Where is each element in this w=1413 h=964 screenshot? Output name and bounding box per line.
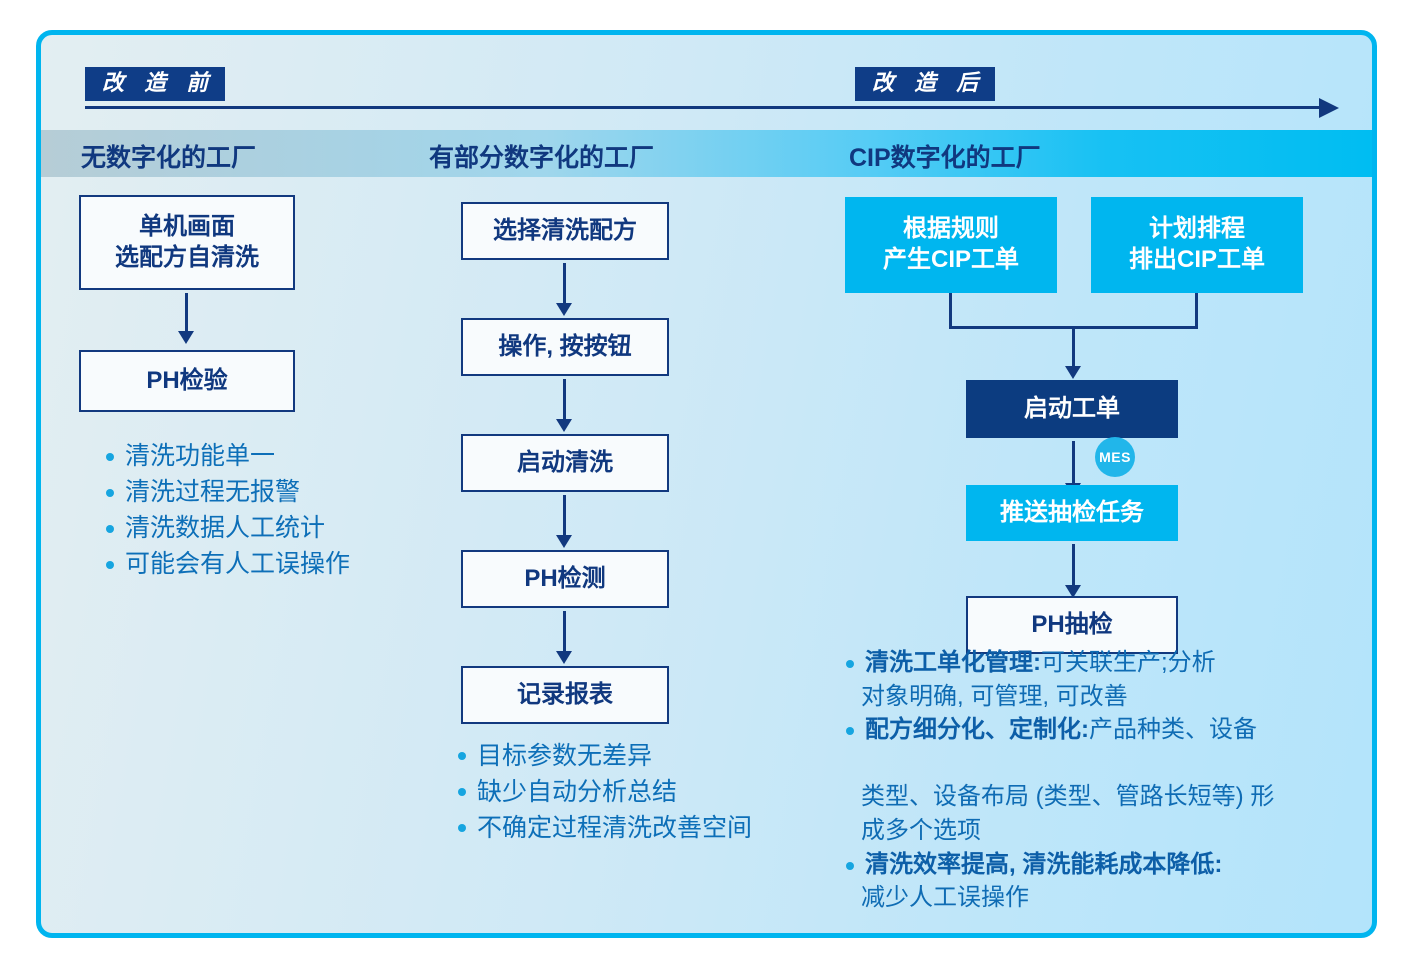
list-item-continuation: 类型、设备布局 (类型、管路长短等) 形 成多个选项 [841,747,1331,848]
flow-box-c2-s2: 操作, 按按钮 [461,318,669,376]
flow-arrow-head-c2-1 [556,303,572,316]
list-item-lead: 配方细分化、定制化: [865,716,1089,743]
list-item: 配方细分化、定制化:产品种类、设备 [841,713,1331,747]
list-item: 清洗功能单一 [101,438,431,474]
diagram-canvas: 改 造 前 改 造 后 无数字化的工厂 有部分数字化的工厂 CIP数字化的工厂 … [0,0,1413,964]
flow-arrow-c3-3 [1072,544,1075,587]
flow-box-c2-s5: 记录报表 [461,666,669,724]
column-header-partial-digital: 有部分数字化的工厂 [429,138,654,174]
bullet-list-partial-digital: 目标参数无差异 缺少自动分析总结 不确定过程清洗改善空间 [453,738,813,846]
right-arrow-icon [1319,98,1339,118]
flow-connector-c3-left [949,293,952,329]
flow-arrow-c2-3 [563,495,566,537]
column-header-no-digital: 无数字化的工厂 [81,138,256,174]
list-item-continuation: 对象明确, 可管理, 可改善 [841,680,1331,714]
timeline-axis [85,106,1323,109]
bullet-list-no-digital: 清洗功能单一 清洗过程无报警 清洗数据人工统计 可能会有人工误操作 [101,438,431,582]
list-item: 清洗工单化管理:可关联生产;分析 [841,646,1331,680]
flow-box-c3-s1: 根据规则 产生CIP工单 [845,197,1057,293]
flow-box-c3-s4: 推送抽检任务 [966,485,1178,541]
list-item: 清洗数据人工统计 [101,510,431,546]
flow-arrow-head-c2-2 [556,419,572,432]
flow-arrow-c3-1 [1072,326,1075,368]
flow-arrow-c2-4 [563,611,566,653]
flow-box-c1-s2: PH检验 [79,350,295,412]
flow-box-c2-s4: PH检测 [461,550,669,608]
list-item-continuation: 减少人工误操作 [841,881,1331,915]
list-item: 可能会有人工误操作 [101,546,431,582]
flow-box-c3-s3: 启动工单 [966,380,1178,438]
flow-arrow-c1-1 [185,293,188,333]
list-item: 不确定过程清洗改善空间 [453,810,813,846]
flow-box-c2-s1: 选择清洗配方 [461,202,669,260]
list-item-cont-text: 减少人工误操作 [861,884,1029,911]
flow-box-c3-s2: 计划排程 排出CIP工单 [1091,197,1303,293]
list-item-cont-text: 对象明确, 可管理, 可改善 [861,683,1128,710]
flow-arrow-head-c1-1 [178,331,194,344]
list-item-rest: 可关联生产;分析 [1041,649,1216,676]
list-item: 清洗过程无报警 [101,474,431,510]
list-item: 清洗效率提高, 清洗能耗成本降低: [841,848,1331,882]
list-item: 目标参数无差异 [453,738,813,774]
list-item-lead: 清洗效率提高, 清洗能耗成本降低: [865,851,1222,878]
bullet-list-cip-digital: 清洗工单化管理:可关联生产;分析 对象明确, 可管理, 可改善 配方细分化、定制… [841,646,1331,915]
list-item: 缺少自动分析总结 [453,774,813,810]
column-header-cip-digital: CIP数字化的工厂 [849,138,1041,174]
list-item-lead: 清洗工单化管理: [865,649,1041,676]
diagram-frame: 改 造 前 改 造 后 无数字化的工厂 有部分数字化的工厂 CIP数字化的工厂 … [36,30,1377,938]
list-item-cont-text: 类型、设备布局 (类型、管路长短等) 形 成多个选项 [861,783,1274,844]
flow-arrow-c3-2 [1072,441,1075,485]
flow-box-c1-s1: 单机画面 选配方自清洗 [79,195,295,290]
flow-box-c2-s3: 启动清洗 [461,434,669,492]
phase-badge-before: 改 造 前 [85,67,225,101]
flow-arrow-head-c2-3 [556,535,572,548]
flow-arrow-c2-1 [563,263,566,305]
mes-badge: MES [1095,437,1135,477]
flow-arrow-c2-2 [563,379,566,421]
flow-arrow-head-c3-1 [1065,366,1081,379]
phase-badge-after: 改 造 后 [855,67,995,101]
flow-arrow-head-c2-4 [556,651,572,664]
flow-connector-c3-right [1195,293,1198,329]
list-item-rest: 产品种类、设备 [1089,716,1257,743]
